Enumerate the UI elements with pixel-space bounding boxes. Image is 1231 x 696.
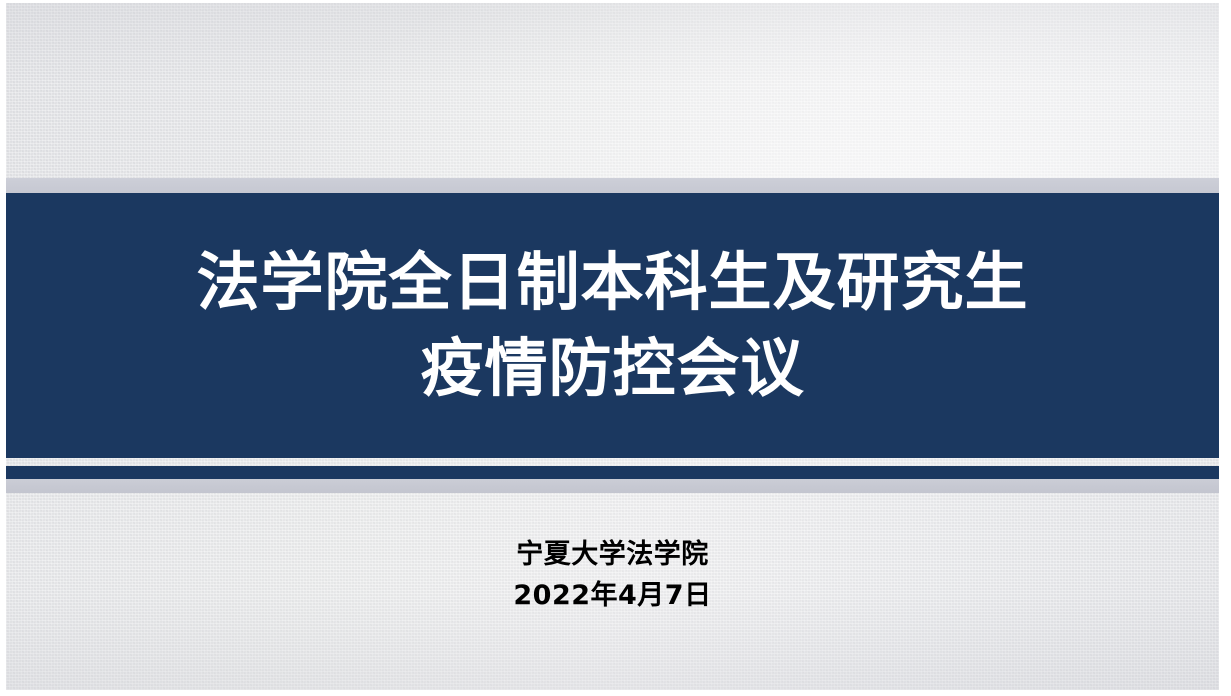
title-line-1: 法学院全日制本科生及研究生 — [197, 240, 1029, 326]
accent-stripe-top — [6, 178, 1219, 193]
band-gap — [6, 458, 1219, 466]
organization-name: 宁夏大学法学院 — [516, 534, 709, 575]
title-line-2: 疫情防控会议 — [421, 326, 805, 412]
presentation-date: 2022年4月7日 — [513, 575, 711, 616]
subtitle-block: 宁夏大学法学院 2022年4月7日 — [0, 534, 1225, 616]
accent-stripe-bottom — [6, 479, 1219, 493]
title-slide: 法学院全日制本科生及研究生 疫情防控会议 宁夏大学法学院 2022年4月7日 — [0, 0, 1231, 696]
accent-bar-navy — [6, 466, 1219, 479]
title-block: 法学院全日制本科生及研究生 疫情防控会议 — [6, 193, 1219, 458]
